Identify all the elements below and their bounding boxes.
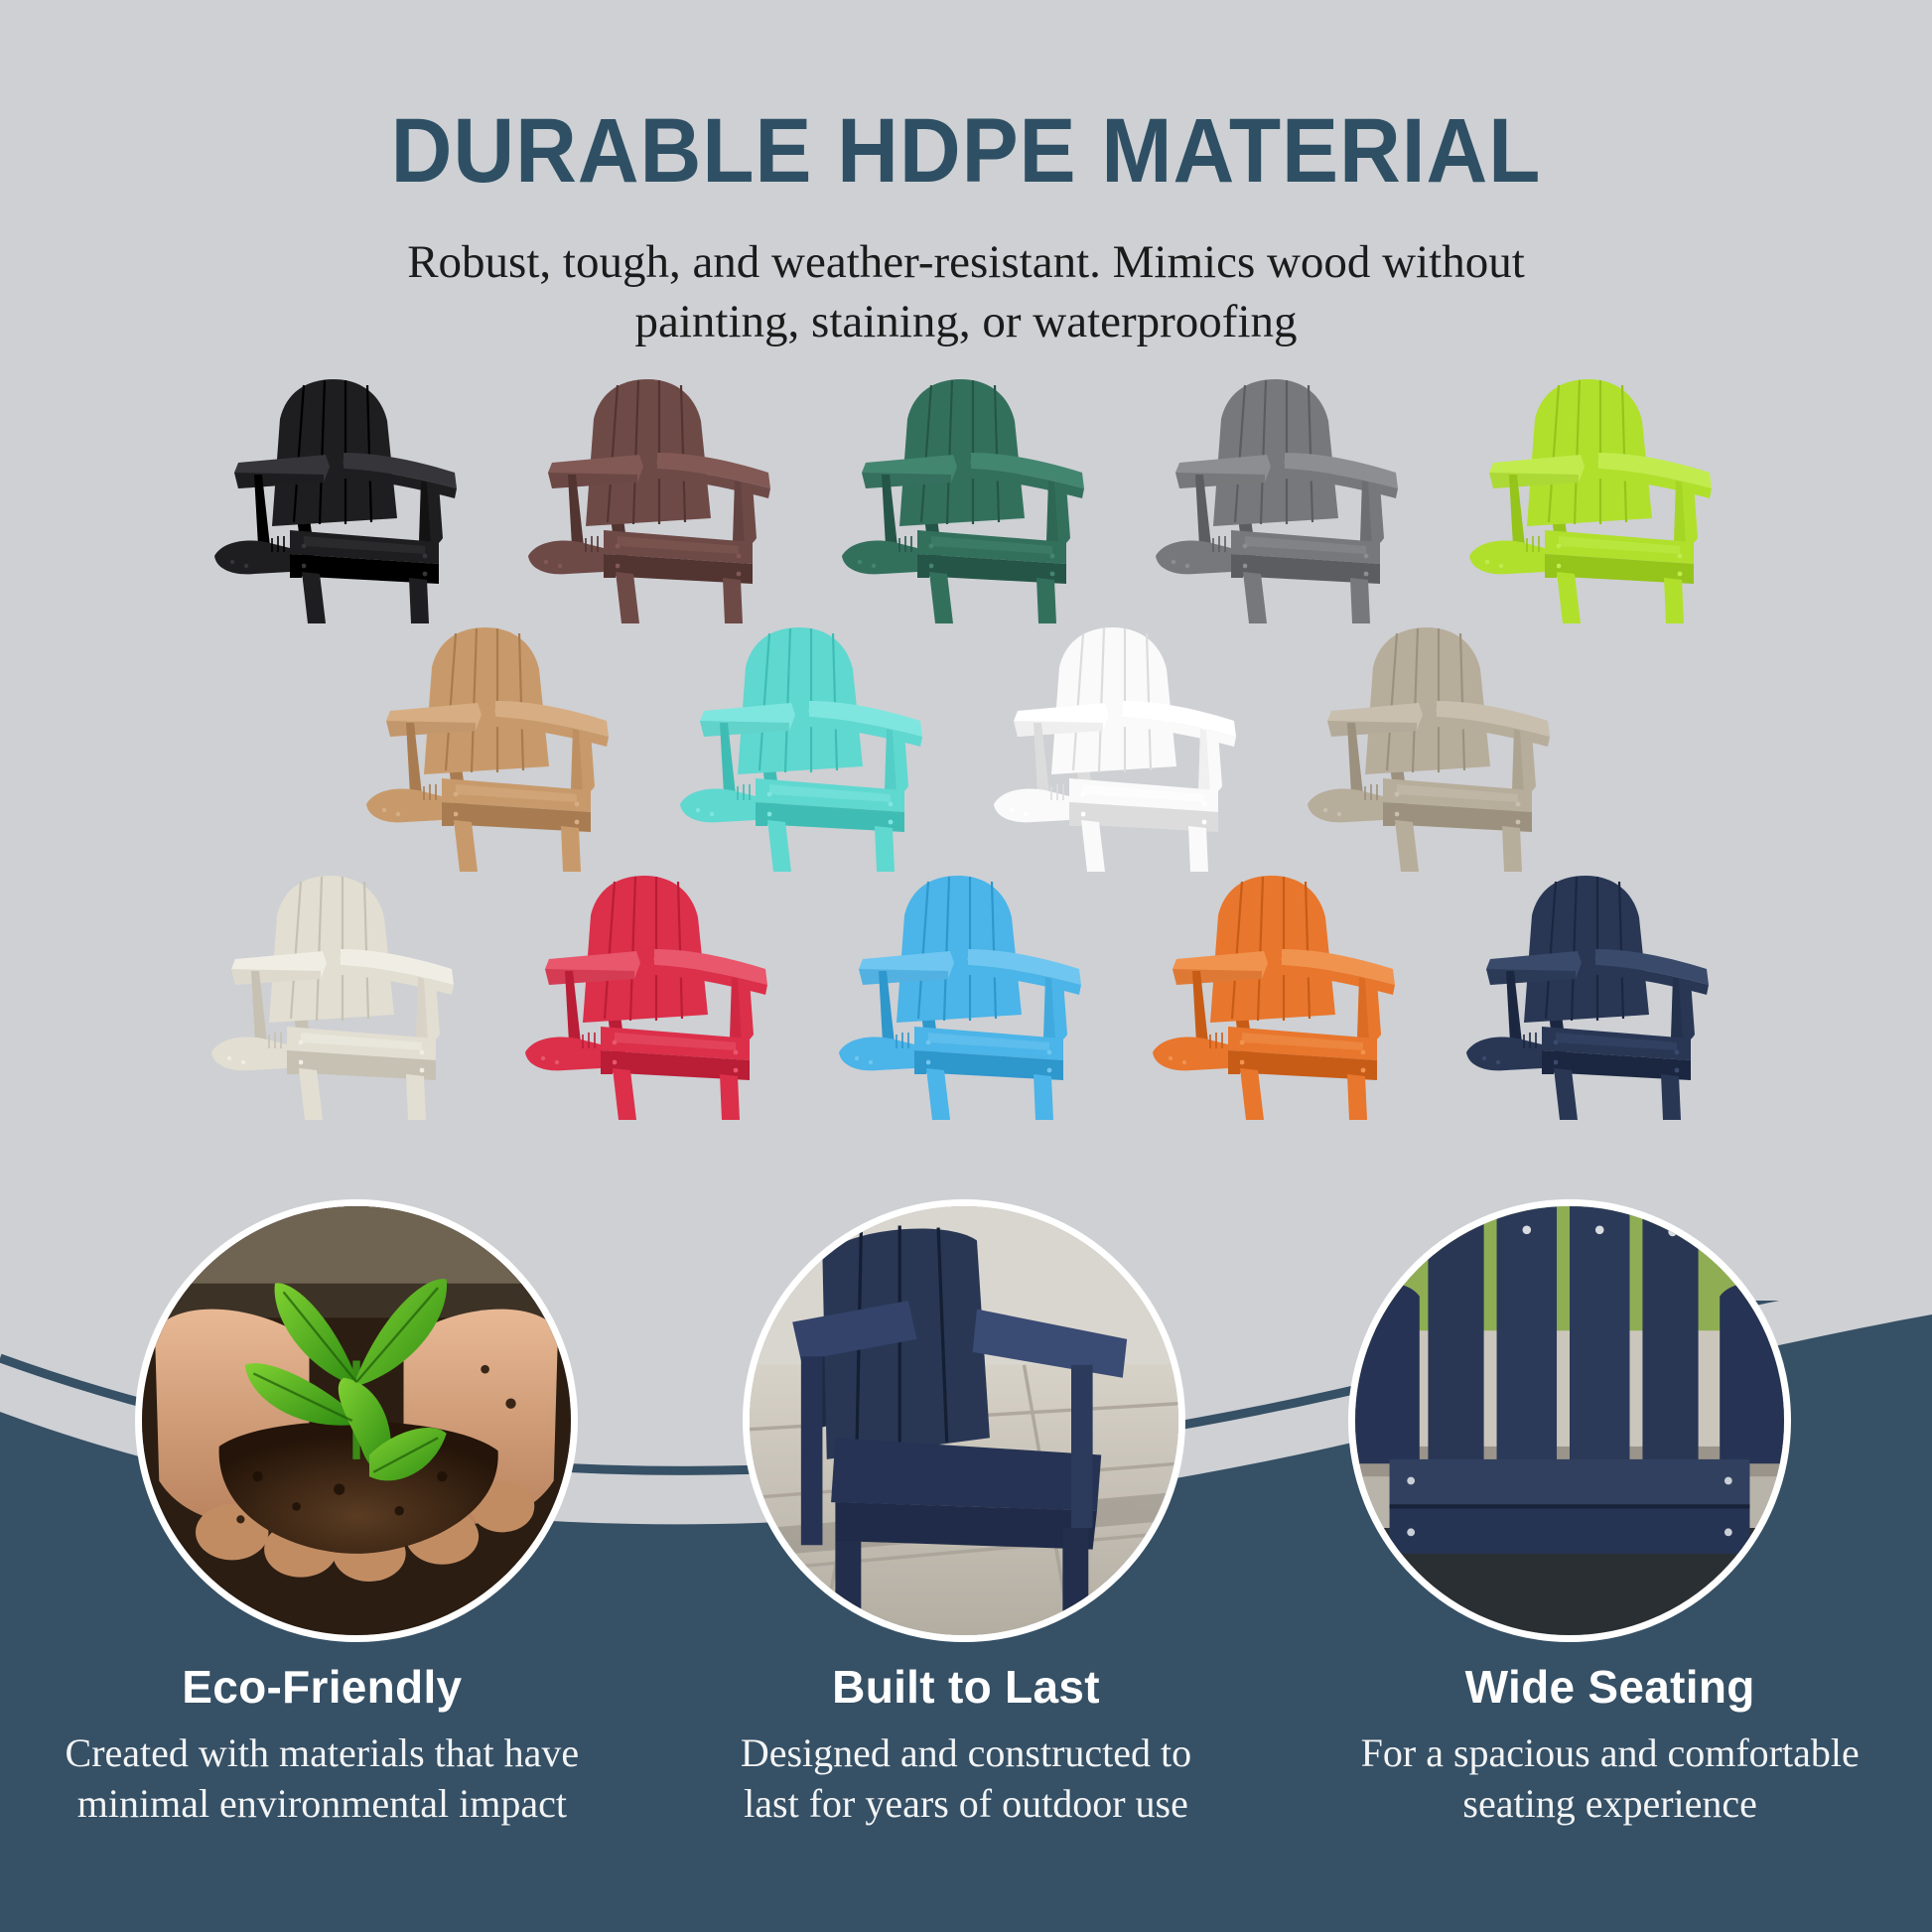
side-stretcher [601,1060,613,1074]
chair-row-1 [10,357,1932,623]
chair-back-panel [586,379,711,526]
side-stretcher [917,564,929,578]
side-stretcher [914,1060,926,1074]
feature-heading: Wide Seating [1304,1660,1916,1714]
side-stretcher [1542,1060,1554,1074]
feature-desc-line-1: Created with materials that have [66,1730,580,1775]
chair-swatch-lime[interactable] [1449,357,1747,623]
subtitle-line-1: Robust, tough, and weather-resistant. Mi… [271,232,1661,292]
chair-row-3 [4,854,1932,1120]
chair-swatch-tan[interactable] [346,606,644,872]
chair-swatch-light-blue[interactable] [819,854,1117,1120]
feature-description: Created with materials that have minimal… [16,1727,628,1829]
side-stretcher [604,564,616,578]
feature-desc-line-1: For a spacious and comfortable [1361,1730,1860,1775]
chair-back-panel [899,379,1025,526]
feature-photo-wide-seating [1348,1199,1791,1642]
front-leg-left [302,572,326,623]
back-slat-2 [1497,1206,1557,1472]
feature-photo-eco-friendly [135,1199,578,1642]
feature-description: For a spacious and comfortable seating e… [1304,1727,1916,1829]
feature-caption-built-to-last: Built to Last Designed and constructed t… [644,1660,1289,1829]
feature-desc-line-2: seating experience [1462,1781,1757,1826]
front-leg-left [613,1068,636,1120]
chair-back-panel [738,627,863,774]
front-leg-right [1034,1074,1053,1120]
chair-row-2 [0,606,1932,872]
chair-arm-right [1720,1284,1784,1463]
chair-back-panel [583,876,708,1023]
chair-back-panel [1365,627,1490,774]
side-stretcher [1383,812,1395,826]
side-stretcher [290,564,302,578]
page-title: DURABLE HDPE MATERIAL [68,0,1864,197]
back-slat-1 [1428,1206,1483,1468]
chair-back-panel [424,627,549,774]
side-stretcher [1545,564,1557,578]
chair-swatch-beige[interactable] [1288,606,1586,872]
chair-color-grid [0,357,1932,1120]
chair-back-panel [897,876,1022,1023]
chair-back-panel [269,876,394,1023]
feature-desc-line-2: minimal environmental impact [77,1781,567,1826]
chair-front-leg-right [1062,1528,1088,1613]
chair-swatch-orange[interactable] [1133,854,1431,1120]
side-stretcher [1231,564,1243,578]
chair-swatch-navy[interactable] [1447,854,1744,1120]
back-slat-3 [1570,1206,1629,1472]
front-leg-right [1347,1074,1367,1120]
seat-board-lower [1390,1506,1750,1554]
chair-back-panel [1524,876,1649,1023]
feature-desc-line-1: Designed and constructed to [741,1730,1191,1775]
chair-front-leg-left [835,1541,861,1626]
chair-swatch-white[interactable] [974,606,1272,872]
feature-caption-eco-friendly: Eco-Friendly Created with materials that… [0,1660,644,1829]
front-leg-left [926,1068,950,1120]
side-stretcher [442,812,454,826]
feature-desc-line-2: last for years of outdoor use [744,1781,1188,1826]
chair-back-panel [1051,627,1176,774]
feature-description: Designed and constructed to last for yea… [660,1727,1273,1829]
page-subtitle: Robust, tough, and weather-resistant. Mi… [271,197,1661,351]
seat-board-upper [1390,1459,1750,1507]
front-leg-right [406,1074,426,1120]
chair-swatch-red[interactable] [505,854,803,1120]
side-stretcher [1228,1060,1240,1074]
feature-photo-built-to-last [743,1199,1185,1642]
infographic-canvas: DURABLE HDPE MATERIAL Robust, tough, and… [0,0,1932,1932]
feature-photos [0,1199,1932,1656]
front-leg-left [1554,1068,1578,1120]
chair-swatch-ivory[interactable] [192,854,489,1120]
side-stretcher [287,1060,299,1074]
chair-back-panel [1527,379,1652,526]
header-block: DURABLE HDPE MATERIAL Robust, tough, and… [0,0,1932,351]
chair-back-panel [272,379,397,526]
back-slat-4 [1642,1206,1698,1468]
chair-swatch-black[interactable] [195,357,492,623]
front-leg-right [720,1074,740,1120]
chair-support-left [801,1356,823,1545]
feature-captions: Eco-Friendly Created with materials that… [0,1660,1932,1829]
front-leg-left [1240,1068,1264,1120]
subtitle-line-2: painting, staining, or waterproofing [271,292,1661,351]
front-leg-left [299,1068,323,1120]
chair-back-panel [1213,379,1338,526]
chair-arm-left [1355,1284,1420,1463]
front-leg-right [1661,1074,1681,1120]
front-leg-right [1664,578,1684,623]
chair-swatch-gray[interactable] [1136,357,1434,623]
chair-swatch-turquoise[interactable] [660,606,958,872]
feature-heading: Eco-Friendly [16,1660,628,1714]
side-stretcher [1069,812,1081,826]
feature-heading: Built to Last [660,1660,1273,1714]
chair-swatch-brown[interactable] [508,357,806,623]
chair-swatch-dark-green[interactable] [822,357,1120,623]
feature-caption-wide-seating: Wide Seating For a spacious and comforta… [1288,1660,1932,1829]
side-stretcher [756,812,767,826]
chair-back-panel [1210,876,1335,1023]
chair-support-right [1071,1365,1093,1528]
